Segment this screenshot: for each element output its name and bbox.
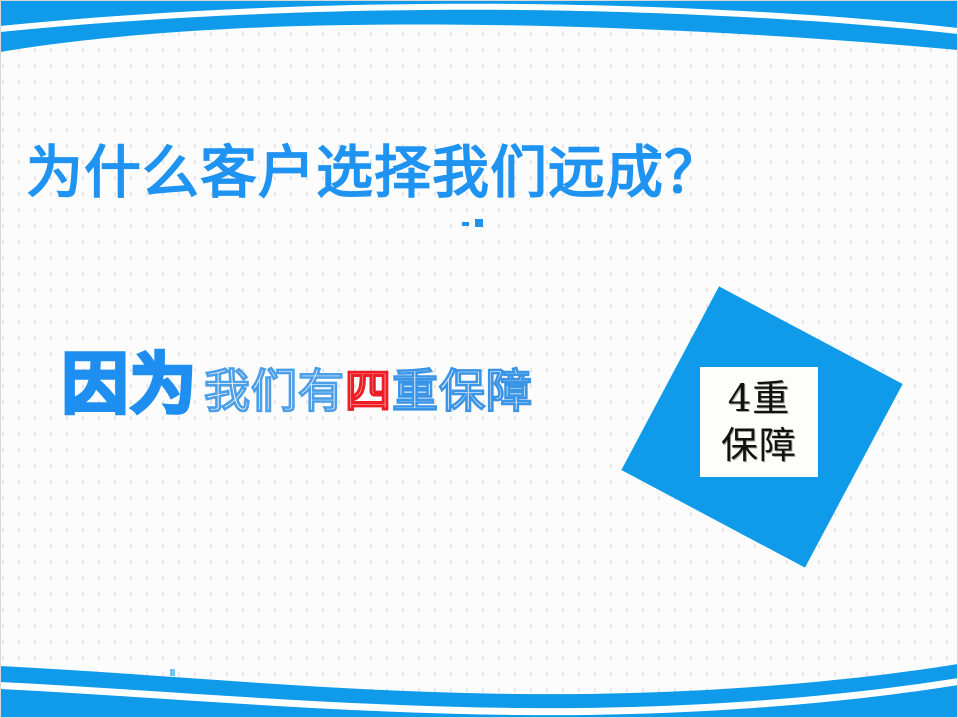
badge-line-1: 4重 — [728, 375, 791, 422]
subtitle-line: 因为 我们有 四 重保障 — [62, 352, 533, 418]
title-decoration-dots — [462, 218, 486, 228]
subtitle-part-red: 四 — [345, 368, 392, 414]
badge-label-box: 4重 保障 — [700, 367, 818, 477]
stray-blue-speck — [170, 669, 175, 676]
subtitle-part-blue-1: 我们有 — [204, 368, 345, 414]
subtitle-part-blue-2: 重保障 — [392, 368, 533, 414]
badge-line-2: 保障 — [721, 422, 797, 469]
subtitle-emphasis: 因为 — [62, 352, 198, 418]
page-title: 为什么客户选择我们远成？ — [26, 144, 722, 204]
slide-canvas: 为什么客户选择我们远成？ 因为 我们有 四 重保障 4重 保障 — [0, 0, 958, 718]
four-guarantees-badge: 4重 保障 — [617, 282, 907, 572]
